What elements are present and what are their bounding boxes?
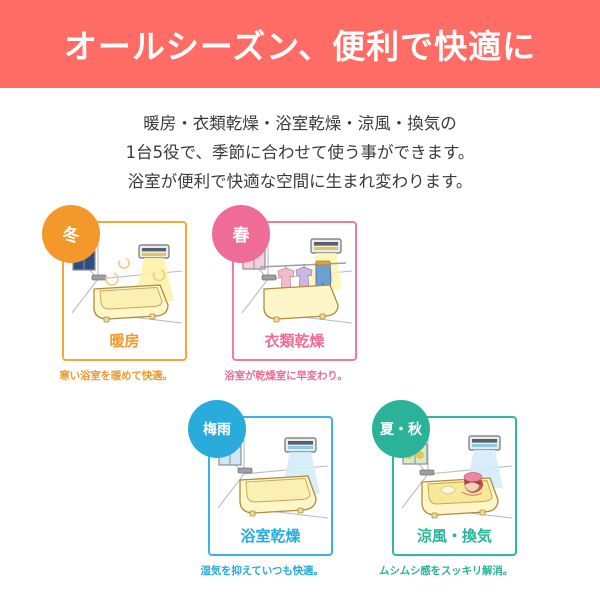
season-badge-label: 冬 [63,221,80,246]
season-badge-label: 夏・秋 [380,419,422,439]
card-frame-summer-autumn: 夏・秋 [392,416,517,556]
header-banner: オールシーズン、便利で快適に [0,0,600,88]
season-card-rainy[interactable]: 梅雨 [188,416,336,578]
season-badge-label: 春 [233,221,250,246]
page-title: オールシーズン、便利で快適に [64,20,536,68]
intro-line-1: 暖房・衣類乾燥・浴室乾燥・涼風・換気の [0,110,600,139]
intro-line-2: 1台5役で、季節に合わせて使う事ができます。 [0,139,600,168]
season-card-grid: 冬 [0,209,600,599]
season-badge-summer-autumn: 夏・秋 [372,400,430,458]
card-label-rainy: 浴室乾燥 [210,525,331,546]
season-badge-rainy: 梅雨 [188,400,246,458]
card-label-summer-autumn: 涼風・換気 [394,525,515,546]
season-badge-label: 梅雨 [203,419,231,439]
season-badge-spring: 春 [212,205,270,263]
card-frame-winter: 冬 [62,221,187,361]
intro-line-3: 浴室が便利で快適な空間に生まれ変わります。 [0,168,600,197]
card-caption-summer-autumn: ムシムシ感をスッキリ解消。 [372,563,520,578]
intro-paragraph: 暖房・衣類乾燥・浴室乾燥・涼風・換気の 1台5役で、季節に合わせて使う事ができま… [0,110,600,197]
season-card-summer-autumn[interactable]: 夏・秋 [372,416,520,578]
card-label-spring: 衣類乾燥 [234,330,355,351]
card-caption-rainy: 湿気を抑えていつも快適。 [188,563,336,578]
season-card-spring[interactable]: 春 [212,221,360,383]
card-caption-winter: 寒い浴室を暖めて快適。 [42,368,190,383]
card-frame-spring: 春 [232,221,357,361]
card-label-winter: 暖房 [64,330,185,351]
card-frame-rainy: 梅雨 [208,416,333,556]
season-card-winter[interactable]: 冬 [42,221,190,383]
card-caption-spring: 浴室が乾燥室に早変わり。 [212,368,360,383]
season-badge-winter: 冬 [42,205,100,263]
